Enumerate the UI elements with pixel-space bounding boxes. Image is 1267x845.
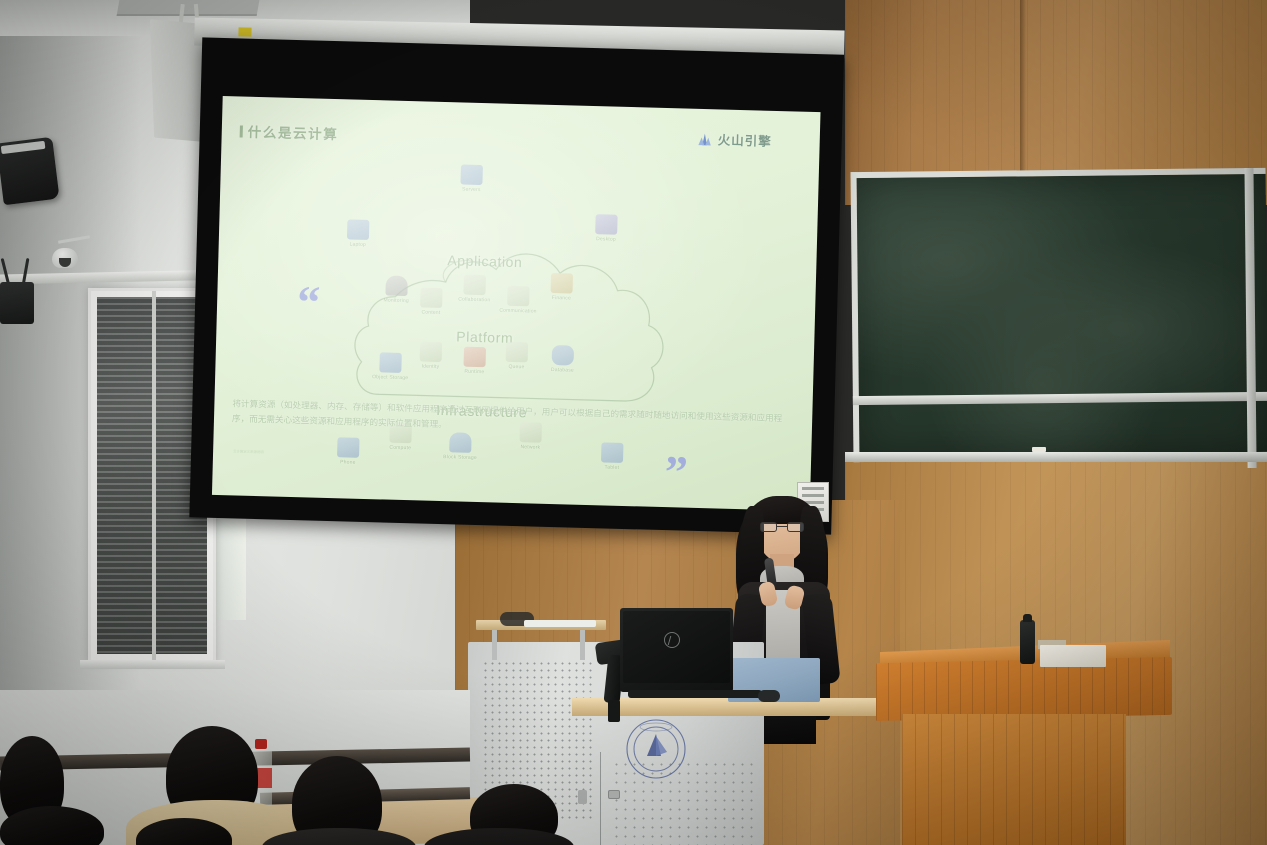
slide-icon-laptop: Laptop [329,219,388,249]
mouse[interactable] [758,690,780,702]
bottle-cap [255,739,267,749]
shelf-leg [492,630,497,660]
object-storage-icon [379,352,402,373]
window-mullion [152,291,156,660]
queue-icon [506,342,529,363]
wifi-access-point [0,282,34,324]
cloud-diagram [334,217,679,426]
communication-icon [507,286,530,307]
layer-label-application: Application [447,252,522,270]
chalk-ledge [845,452,1267,462]
server-icon [460,164,483,185]
phone-icon [337,437,360,458]
slide-icon-finance: Finance [532,272,591,302]
slide-icon-database: Database [533,345,592,375]
console-lock-icon[interactable] [608,790,620,799]
icon-label: Laptop [329,241,387,249]
slide-icon-desktop: Desktop [577,214,636,244]
icon-label: Block Storage [431,454,489,462]
projection-screen: 什么是云计算 火山引擎 “ ” [189,11,843,538]
chalk-piece [1032,447,1046,452]
identity-icon [420,341,443,362]
console-handle-icon[interactable] [578,790,587,804]
slide-icon-tablet: Tablet [583,442,642,472]
laptop-icon [347,219,370,240]
wooden-lectern [902,714,1126,845]
chalk-smudges [857,174,1267,456]
lens-left [760,522,777,532]
dome-camera-icon [52,248,78,268]
monitor-desk-clamp [608,700,620,722]
content-icon [420,287,443,308]
console-door-seam [600,752,601,845]
icon-label: Network [501,444,559,452]
lecture-hall-scene: 什么是云计算 火山引擎 “ ” [0,0,1267,845]
keyboard[interactable] [524,620,596,627]
warning-label [238,27,251,36]
brand-name: 火山引擎 [717,129,772,149]
icon-label: Phone [319,459,377,467]
lens-right [787,522,804,532]
icon-label: Compute [371,444,429,452]
block-storage-icon [449,432,472,453]
desktop-icon [595,214,618,235]
slide-footnote: 云计算定义来源说明 [233,448,264,454]
dell-monitor[interactable] [620,608,733,692]
shelf-leg [580,630,585,660]
slide-icon-servers: Servers [442,164,501,194]
tablet-icon [601,442,624,463]
black-thermos [1020,620,1035,664]
quote-open-icon: “ [297,286,321,319]
glasses-bridge [777,526,787,527]
quote-close-icon: ” [664,456,688,489]
slide-icon-phone: Phone [319,437,378,467]
screen-border: 什么是云计算 火山引擎 “ ” [189,37,844,534]
runtime-icon [464,347,487,368]
icon-label: Tablet [583,464,641,472]
collaboration-icon [463,275,486,296]
slide-title-text: 什么是云计算 [248,125,339,142]
database-icon [552,345,575,366]
cloud-outline-icon [334,217,679,426]
slide-title: 什么是云计算 [240,120,339,143]
monitor-base [628,690,762,698]
window-sill [80,660,225,669]
volcano-mountain-icon [697,131,713,145]
lectern-top [876,657,1172,721]
dell-logo-icon [664,632,680,648]
icon-label: Servers [442,186,500,194]
brand-lockup: 火山引擎 [696,129,772,150]
monitor-screen[interactable] [623,611,730,683]
finance-icon [551,273,574,294]
university-emblem [625,718,687,780]
slide-icon-block-storage: Block Storage [431,432,490,462]
presentation-slide: 什么是云计算 火山引擎 “ ” [212,96,821,511]
eyeglasses-icon [760,522,804,532]
wall-speaker [0,137,60,205]
blackboard [850,168,1267,462]
white-box [1040,645,1106,667]
title-accent-bar [240,125,243,137]
